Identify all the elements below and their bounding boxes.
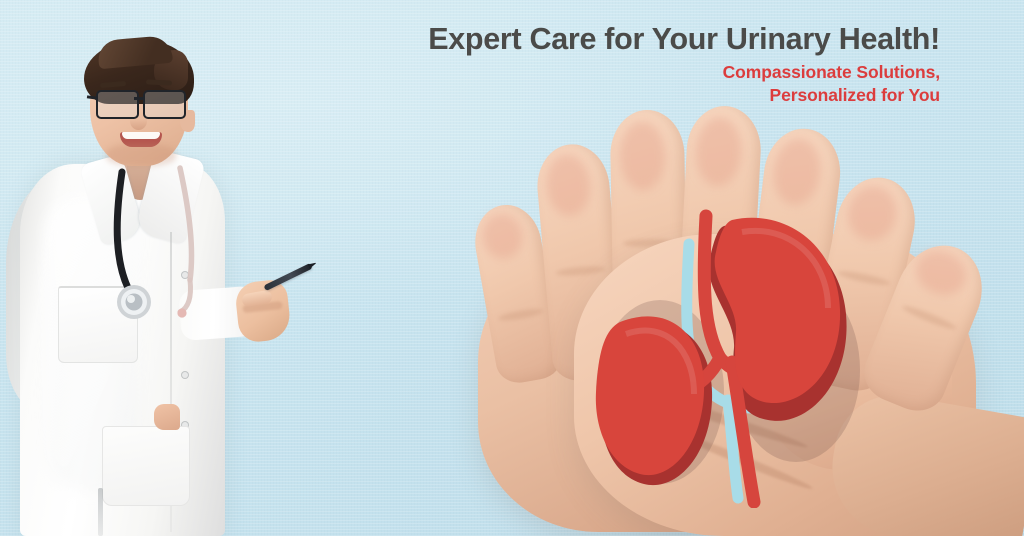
subtitle-line-2: Personalized for You <box>420 84 940 107</box>
page-title: Expert Care for Your Urinary Health! <box>420 22 940 56</box>
urology-banner: Expert Care for Your Urinary Health! Com… <box>0 0 1024 536</box>
glasses-icon <box>94 90 186 116</box>
glasses-lens-left <box>96 90 139 119</box>
pen-icon <box>263 263 312 291</box>
coat-vent <box>98 488 103 536</box>
coat-chest-pocket <box>58 286 138 363</box>
coat-button <box>182 372 188 378</box>
chin-shadow <box>106 144 176 166</box>
kidney-illustration <box>582 202 872 508</box>
doctor-figure <box>0 36 334 536</box>
hands-holding-kidneys <box>432 84 1024 536</box>
hand-holding-pen <box>234 278 292 343</box>
hand-in-pocket <box>154 404 180 430</box>
glasses-temple <box>87 95 97 99</box>
coat-button <box>182 272 188 278</box>
subtitle-line-1: Compassionate Solutions, <box>420 61 940 84</box>
headline-block: Expert Care for Your Urinary Health! Com… <box>420 22 940 106</box>
coat-lower-pocket <box>102 426 190 506</box>
glasses-bridge <box>134 97 144 100</box>
glasses-lens-right <box>143 90 186 119</box>
subtitle: Compassionate Solutions, Personalized fo… <box>420 61 940 106</box>
